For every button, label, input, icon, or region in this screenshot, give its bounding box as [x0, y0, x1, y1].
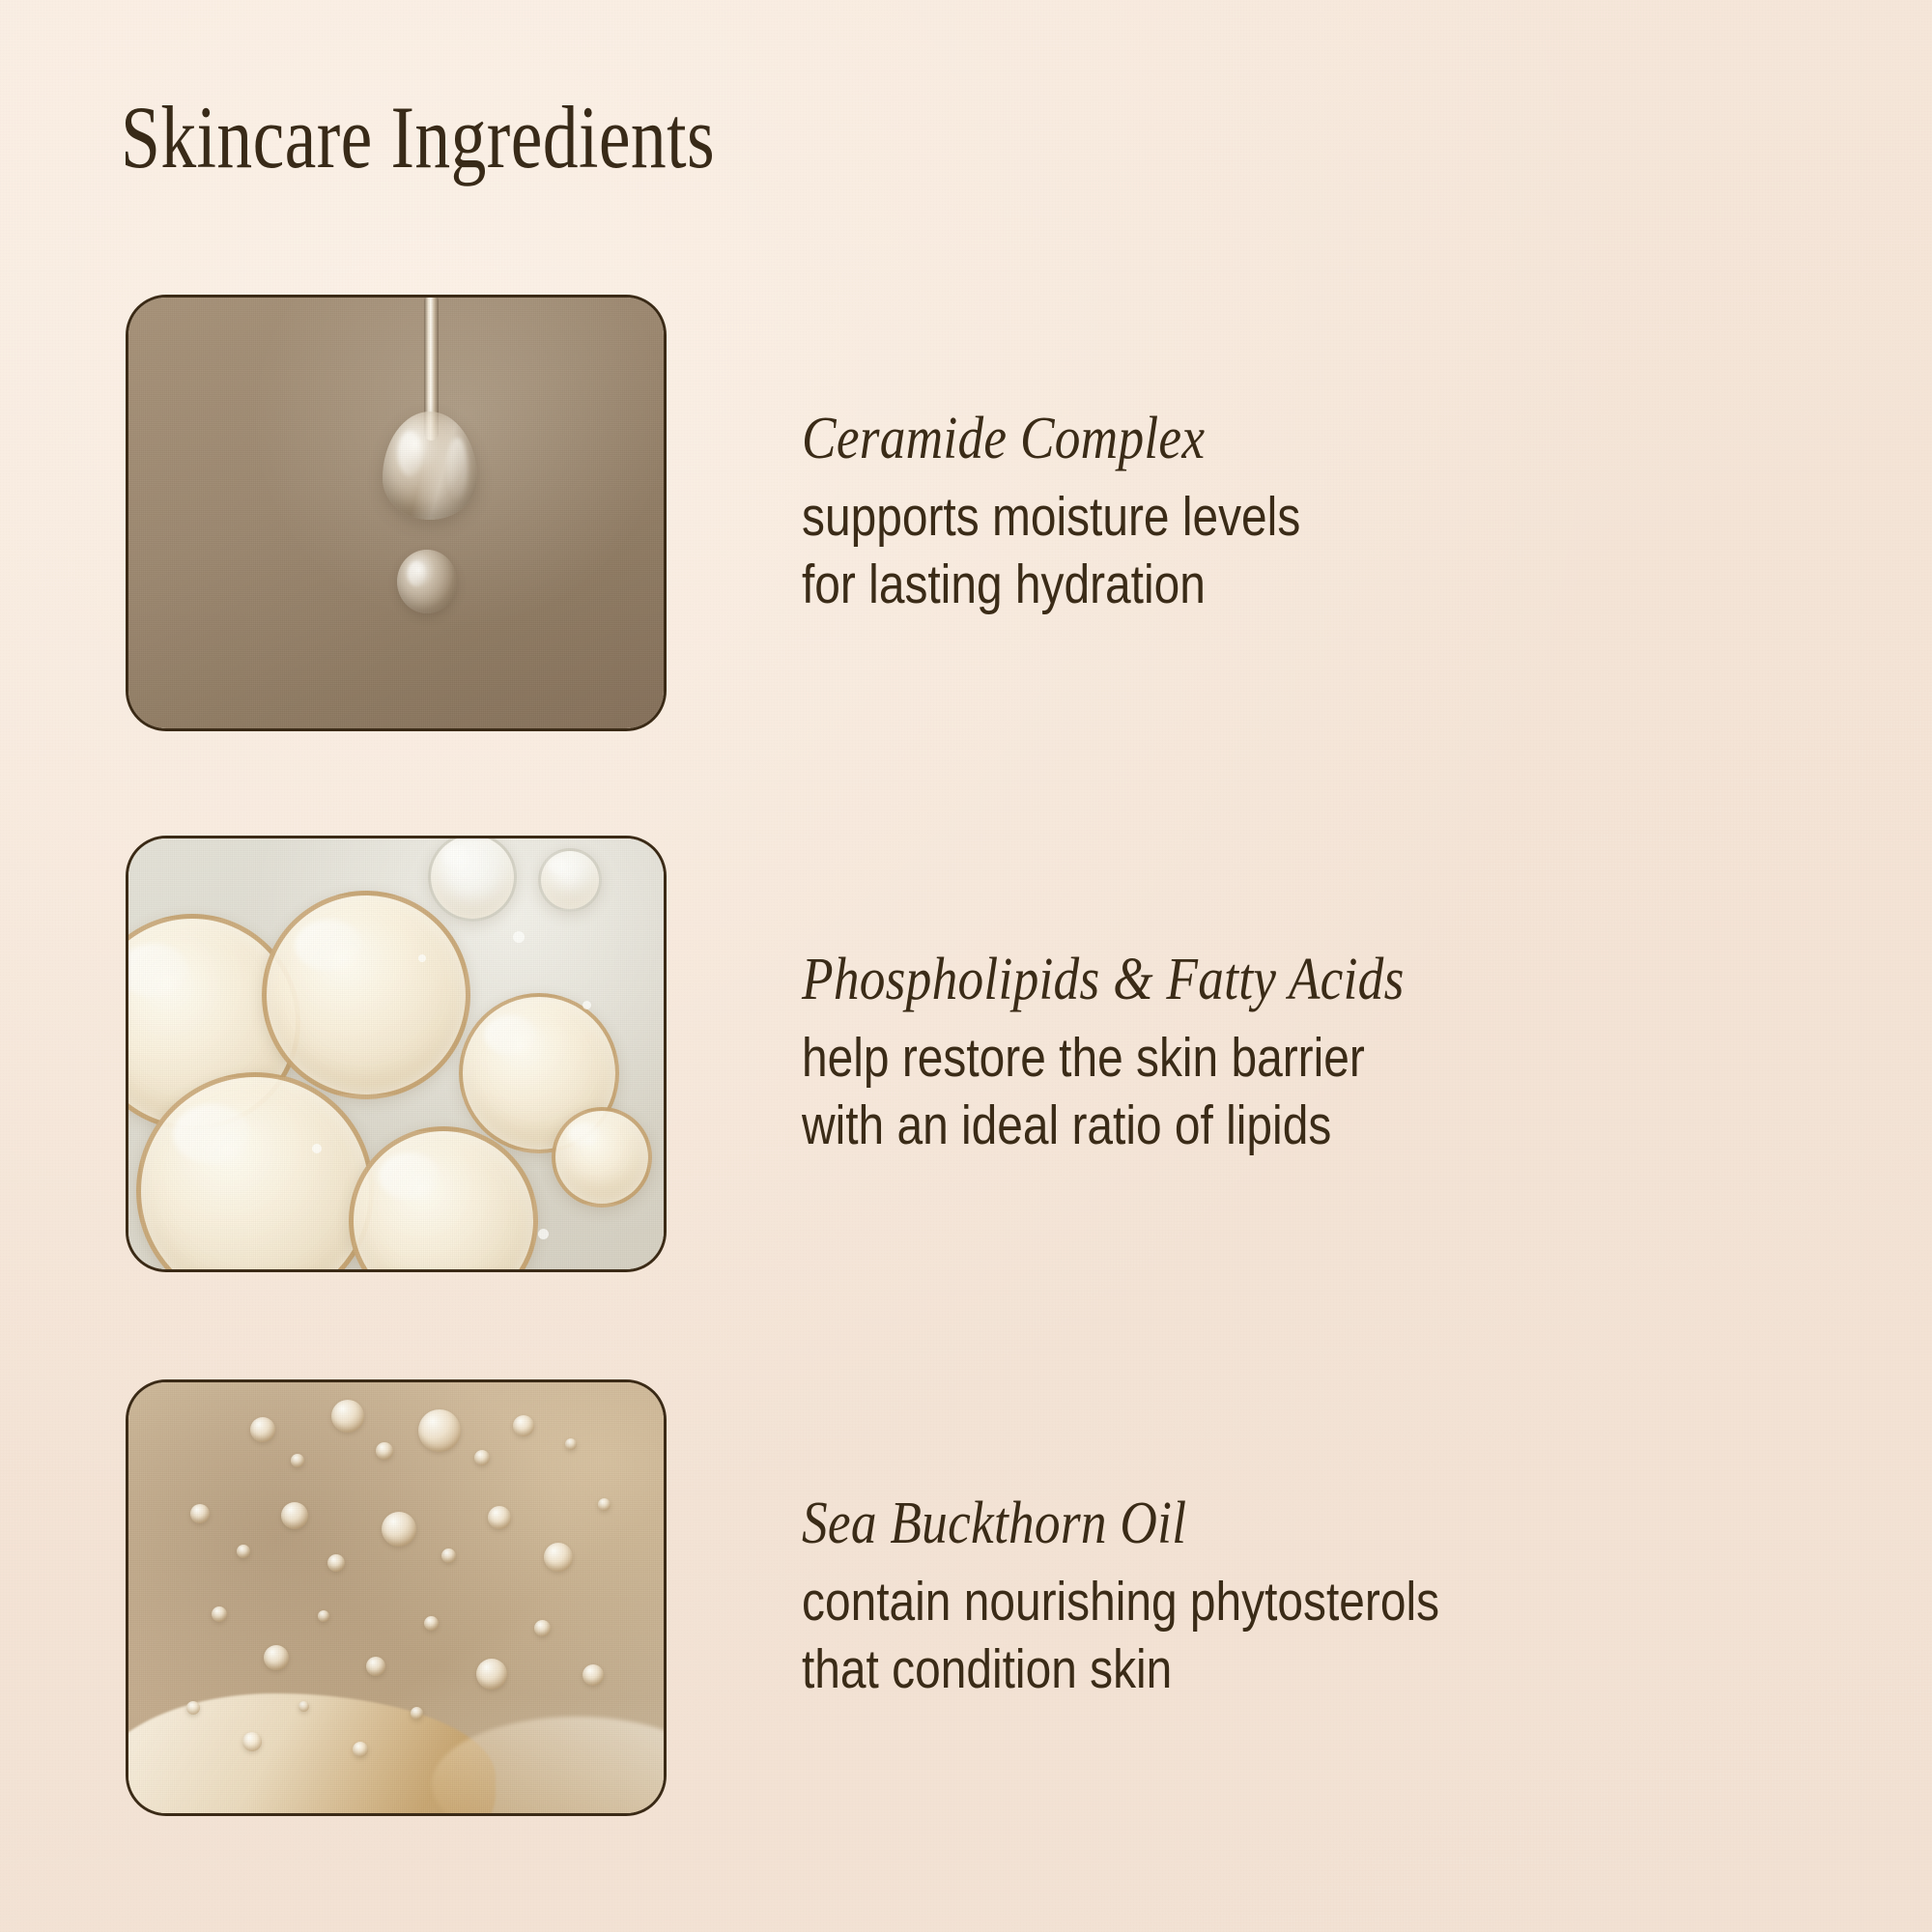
ingredient-row-sea-buckthorn-oil: Sea Buckthorn Oil contain nourishing phy… [126, 1379, 1826, 1816]
ingredient-text-3: Sea Buckthorn Oil contain nourishing phy… [802, 1379, 1826, 1816]
ingredient-name-3: Sea Buckthorn Oil [802, 1492, 1683, 1555]
ingredient-image-card-2 [126, 836, 667, 1272]
ingredient-description-1: supports moisture levels for lasting hyd… [802, 484, 1662, 618]
ingredient-list: Ceramide Complex supports moisture level… [0, 0, 1932, 1932]
ingredient-row-ceramide-complex: Ceramide Complex supports moisture level… [126, 295, 1826, 731]
ingredient-name-2: Phospholipids & Fatty Acids [802, 949, 1683, 1011]
ingredient-text-1: Ceramide Complex supports moisture level… [802, 295, 1826, 731]
card-grain-overlay [128, 298, 664, 728]
card-grain-overlay [128, 1382, 664, 1813]
skincare-ingredients-poster: Skincare Ingredients Ceramide Complex su… [0, 0, 1932, 1932]
ingredient-description-2: help restore the skin barrier with an id… [802, 1025, 1662, 1159]
card-grain-overlay [128, 838, 664, 1269]
ingredient-image-card-1 [126, 295, 667, 731]
ingredient-name-1: Ceramide Complex [802, 408, 1683, 470]
ingredient-image-card-3 [126, 1379, 667, 1816]
ingredient-text-2: Phospholipids & Fatty Acids help restore… [802, 836, 1826, 1272]
ingredient-row-phospholipids-fatty-acids: Phospholipids & Fatty Acids help restore… [126, 836, 1826, 1272]
ingredient-description-3: contain nourishing phytosterols that con… [802, 1569, 1662, 1703]
